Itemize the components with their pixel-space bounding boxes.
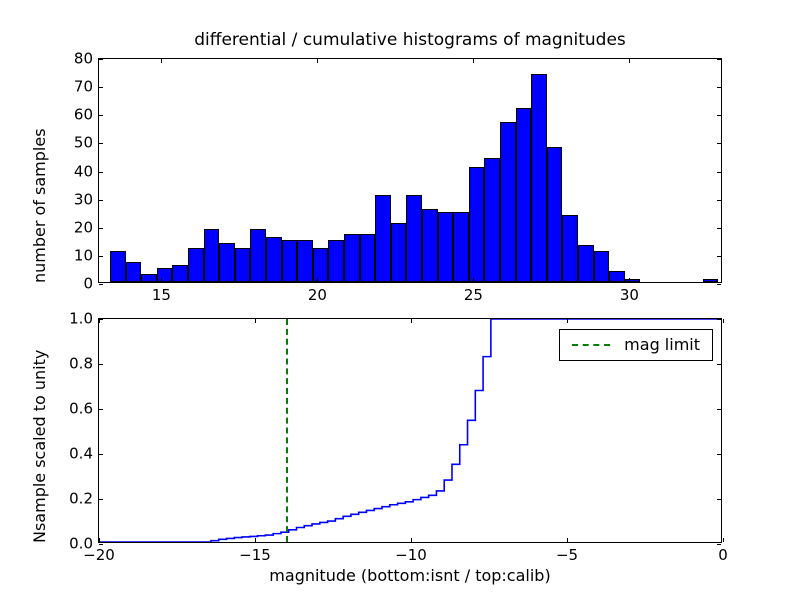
y-tick-label: 70 (74, 80, 93, 95)
axis-tick (629, 59, 630, 63)
x-tick-label: 20 (308, 288, 327, 303)
x-tick-label: −15 (239, 548, 271, 563)
histogram-bar (625, 279, 641, 282)
histogram-bar (219, 243, 235, 282)
histogram-bar (422, 209, 438, 282)
axis-tick (723, 538, 724, 542)
y-tick-label: 10 (74, 248, 93, 263)
axis-tick (411, 538, 412, 542)
axis-tick (717, 454, 721, 455)
axis-tick (161, 278, 162, 282)
mag-limit-legend-swatch (572, 344, 610, 346)
axis-tick (717, 499, 721, 500)
histogram-bar (282, 240, 298, 282)
axis-tick (99, 409, 103, 410)
bottom-panel-x-axis-label: magnitude (bottom:isnt / top:calib) (98, 568, 722, 584)
histogram-bar (531, 74, 547, 282)
histogram-bar (126, 262, 142, 282)
axis-tick (717, 172, 721, 173)
axis-tick (473, 59, 474, 63)
y-tick-label: 30 (74, 192, 93, 207)
x-tick-label: 15 (152, 288, 171, 303)
histogram-bar (297, 240, 313, 282)
axis-tick (723, 319, 724, 323)
axis-tick (99, 87, 103, 88)
axis-tick (411, 319, 412, 323)
axis-tick (99, 454, 103, 455)
y-tick-label: 0.4 (69, 447, 93, 462)
axis-tick (99, 143, 103, 144)
axis-tick (99, 544, 103, 545)
axis-tick (473, 278, 474, 282)
axis-tick (255, 538, 256, 542)
x-tick-label: −20 (83, 548, 115, 563)
histogram-bar (328, 240, 344, 282)
x-tick-label: −5 (556, 548, 578, 563)
x-tick-label: 25 (464, 288, 483, 303)
axis-tick (629, 278, 630, 282)
axis-tick (717, 143, 721, 144)
axis-tick (717, 256, 721, 257)
figure-canvas: differential / cumulative histograms of … (0, 0, 800, 600)
top-panel-y-axis-label: number of samples (30, 128, 49, 283)
axis-tick (99, 200, 103, 201)
axis-tick (717, 544, 721, 545)
histogram-bar (188, 248, 204, 282)
axis-tick (717, 59, 721, 60)
histogram-bar (266, 237, 282, 282)
histogram-bar (172, 265, 188, 282)
top-panel-plot-area (99, 59, 721, 282)
axis-tick (99, 172, 103, 173)
axis-tick (161, 59, 162, 63)
histogram-bar (547, 147, 563, 282)
axis-tick (717, 284, 721, 285)
histogram-bar (391, 223, 407, 282)
axis-tick (717, 200, 721, 201)
axis-tick (567, 319, 568, 323)
histogram-bar (562, 215, 578, 283)
histogram-bar (500, 122, 516, 282)
histogram-bar (250, 229, 266, 282)
axis-tick (99, 284, 103, 285)
axis-tick (99, 115, 103, 116)
histogram-bar (110, 251, 126, 282)
axis-tick (717, 409, 721, 410)
figure-title: differential / cumulative histograms of … (98, 32, 722, 49)
axis-tick (99, 499, 103, 500)
histogram-bar (157, 268, 173, 282)
axis-tick (567, 538, 568, 542)
axis-tick (717, 228, 721, 229)
y-tick-label: 60 (74, 108, 93, 123)
histogram-bar (313, 248, 329, 282)
histogram-bar (484, 158, 500, 282)
y-tick-label: 20 (74, 220, 93, 235)
bottom-panel-y-axis-label: Nsample scaled to unity (30, 350, 49, 543)
axis-tick (255, 319, 256, 323)
y-tick-label: 0.8 (69, 357, 93, 372)
histogram-bar (406, 195, 422, 282)
axis-tick (99, 256, 103, 257)
top-panel-axes: 01020304050607080 15202530 (98, 58, 722, 283)
axis-tick (99, 59, 103, 60)
mag-limit-vline (286, 319, 288, 542)
axis-tick (717, 319, 721, 320)
axis-tick (717, 115, 721, 116)
y-tick-label: 0.6 (69, 402, 93, 417)
axis-tick (99, 228, 103, 229)
axis-tick (99, 538, 100, 542)
y-tick-label: 50 (74, 136, 93, 151)
histogram-bar (375, 195, 391, 282)
axis-tick (717, 87, 721, 88)
histogram-bar (235, 248, 251, 282)
y-tick-label: 80 (74, 52, 93, 67)
histogram-bar (344, 234, 360, 282)
mag-limit-legend-label: mag limit (624, 337, 700, 353)
histogram-bar (204, 229, 220, 282)
histogram-bar (141, 274, 157, 282)
histogram-bar (594, 251, 610, 282)
bottom-panel-axes: mag limit 0.00.20.40.60.81.0 −20−15−10−5… (98, 318, 722, 543)
histogram-bar (609, 271, 625, 282)
histogram-bar (516, 108, 532, 282)
x-tick-label: −10 (395, 548, 427, 563)
histogram-bar (469, 167, 485, 282)
axis-tick (317, 59, 318, 63)
axis-tick (317, 278, 318, 282)
x-tick-label: 0 (718, 548, 728, 563)
histogram-bar (703, 279, 719, 282)
y-tick-label: 0 (83, 277, 93, 292)
y-tick-label: 0.2 (69, 492, 93, 507)
axis-tick (717, 364, 721, 365)
histogram-bar (578, 245, 594, 282)
x-tick-label: 30 (620, 288, 639, 303)
histogram-bar (453, 212, 469, 282)
histogram-bar (360, 234, 376, 282)
legend-box[interactable]: mag limit (559, 329, 713, 361)
histogram-bar (438, 212, 454, 282)
y-tick-label: 1.0 (69, 312, 93, 327)
y-tick-label: 40 (74, 164, 93, 179)
axis-tick (99, 319, 100, 323)
axis-tick (99, 364, 103, 365)
